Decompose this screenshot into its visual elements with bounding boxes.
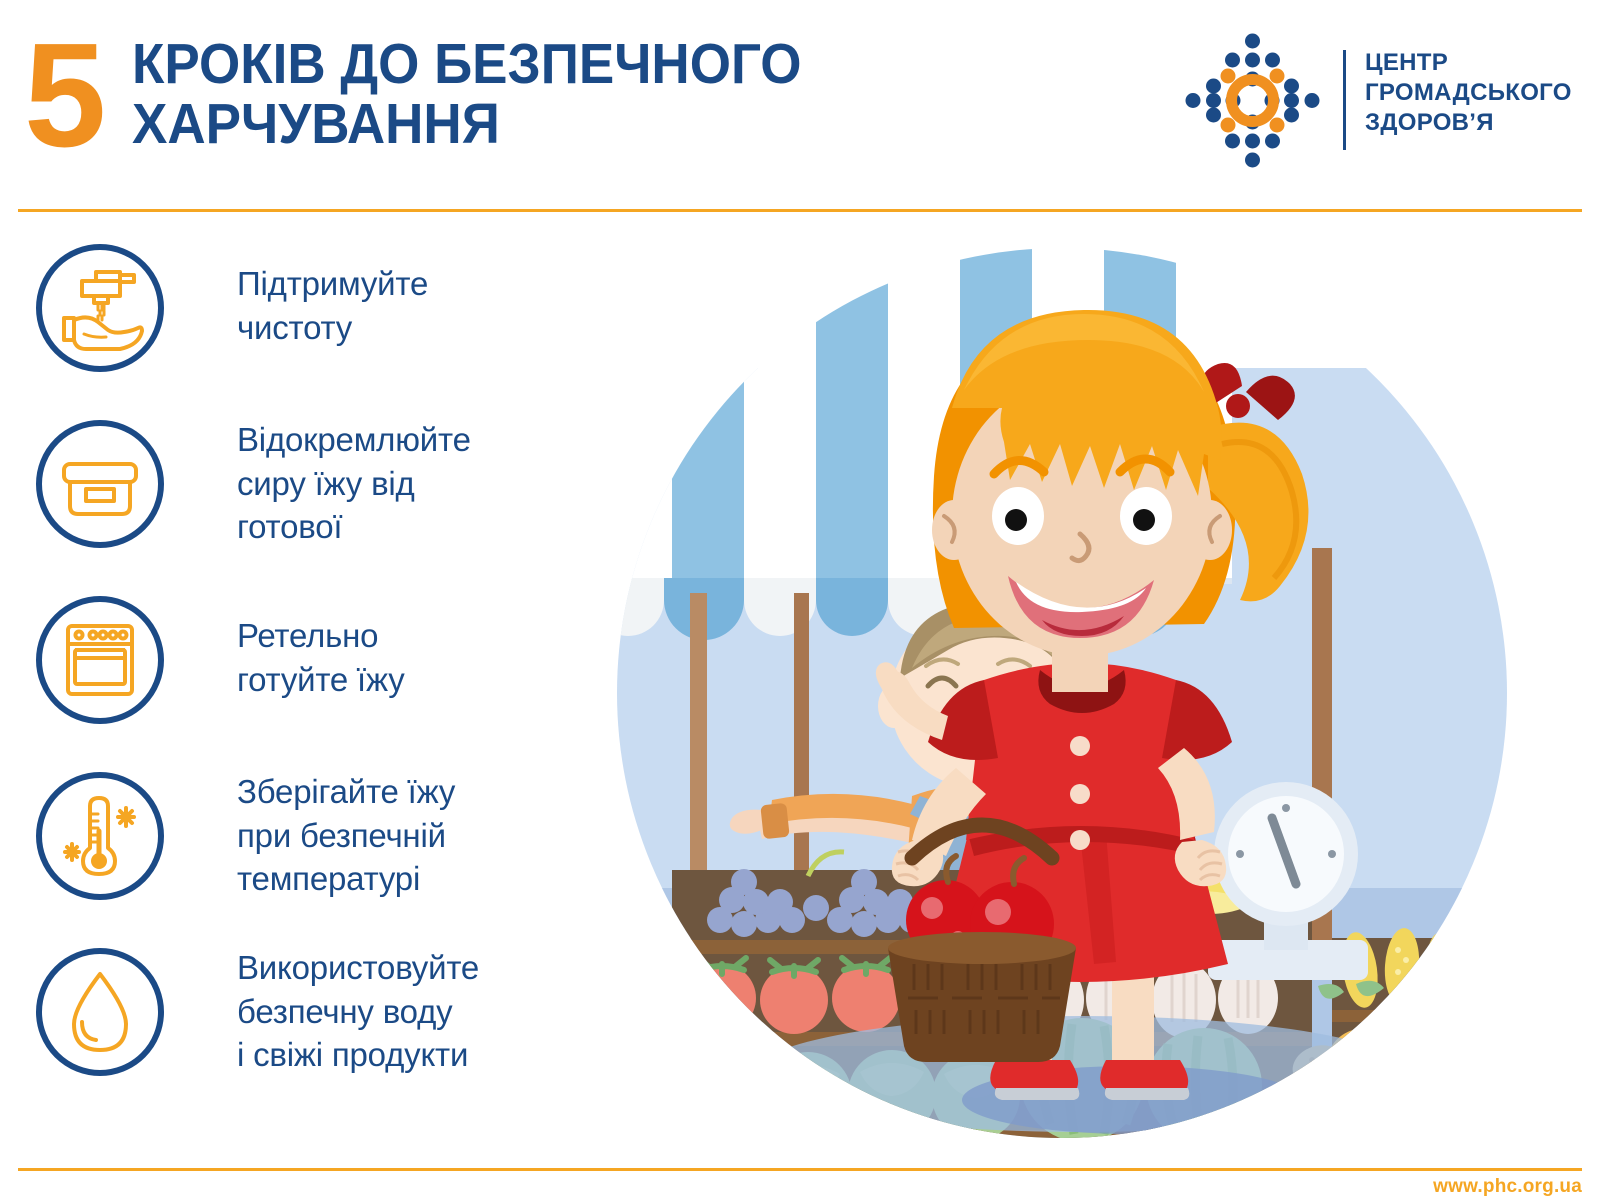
step-1-label: Підтримуйтечистоту [237,262,428,349]
step-3-icon-circle [36,596,164,724]
logo-wordmark: ЦЕНТР ГРОМАДСЬКОГО ЗДОРОВ’Я [1365,48,1572,139]
logo-divider [1343,50,1346,150]
step-5-label: Використовуйтебезпечну водуі свіжі проду… [237,946,479,1077]
page-title-line-1: КРОКІВ ДО БЕЗПЕЧНОГО [132,32,802,96]
water-droplet-icon [42,954,158,1070]
page-title-line-2: ХАРЧУВАННЯ [132,94,1062,154]
logo-line-2: ГРОМАДСЬКОГО [1365,78,1572,108]
thermometer-snowflake-icon [42,778,158,894]
footer-divider-rule [18,1168,1582,1171]
step-count-number: 5 [24,22,102,170]
infographic-page: 5 КРОКІВ ДО БЕЗПЕЧНОГО ХАРЧУВАННЯ [0,0,1600,1200]
food-storage-container-icon [42,426,158,542]
pumpkins [1328,1026,1512,1092]
phc-diamond-dot-logo-icon [1180,28,1325,173]
weighing-scale [1208,782,1368,980]
step-5-icon-circle [36,948,164,1076]
step-1-icon-circle [36,244,164,372]
hand-washing-under-faucet-icon [42,250,158,366]
logo-line-3: ЗДОРОВ’Я [1365,108,1572,138]
step-4-label: Зберігайте їжупри безпечнійтемпературі [237,770,455,901]
steps-list: Підтримуйтечистоту Відокремлюйтесиру їжу… [0,244,600,1134]
step-4-icon-circle [36,772,164,900]
market-scene-illustration [612,248,1512,1138]
step-2-label: Відокремлюйтесиру їжу відготової [237,418,471,549]
header-divider-rule [18,209,1582,212]
step-3-label: Ретельноготуйте їжу [237,614,405,701]
website-link[interactable]: www.phc.org.ua [1433,1176,1582,1198]
page-header: 5 КРОКІВ ДО БЕЗПЕЧНОГО ХАРЧУВАННЯ [0,0,1600,200]
stove-oven-icon [42,602,158,718]
organization-logo: ЦЕНТР ГРОМАДСЬКОГО ЗДОРОВ’Я [1180,28,1580,173]
logo-line-1: ЦЕНТР [1365,48,1572,78]
zucchini [1302,1093,1353,1138]
eggplants [1342,1103,1512,1138]
step-2-icon-circle [36,420,164,548]
page-title: КРОКІВ ДО БЕЗПЕЧНОГО ХАРЧУВАННЯ [132,34,1062,155]
